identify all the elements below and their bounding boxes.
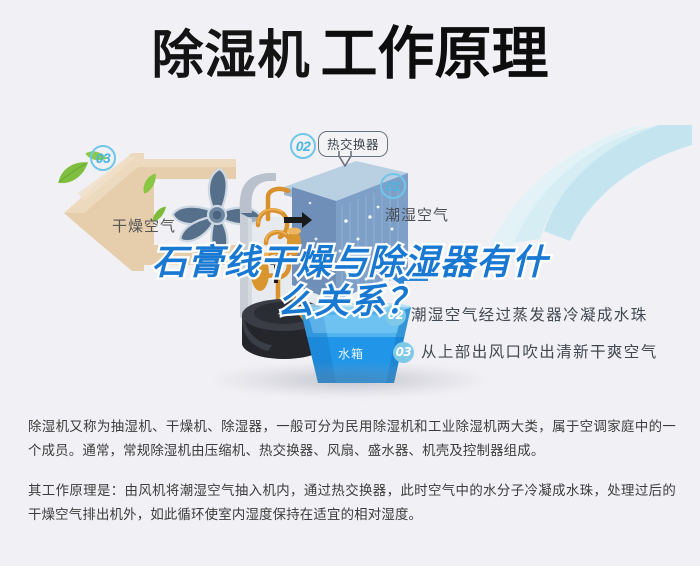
overlay-headline-line1: 石膏线干燥与除湿器有什 — [0, 244, 700, 283]
label-water-tank: 水箱 — [338, 345, 364, 362]
callout-heat-exchanger: 热交换器 — [318, 131, 388, 157]
infographic-page: 除湿机工作原理 — [0, 0, 700, 566]
step-note-badge-03: 03 — [393, 342, 414, 363]
label-dry-air: 干燥空气 — [112, 215, 176, 236]
paragraph-2: 其工作原理是：由风机将潮湿空气抽入机内，通过热交换器，此时空气中的水分子冷凝成水… — [28, 480, 676, 528]
paragraph-1: 除湿机又称为抽湿机、干燥机、除湿器，一般可分为民用除湿机和工业除湿机两大类，属于… — [28, 416, 676, 464]
label-humid-air: 潮湿空气 — [385, 204, 449, 225]
step-badge-02: 02 — [290, 133, 316, 159]
step-badge-03: 03 — [90, 145, 116, 171]
page-title: 除湿机工作原理 — [0, 26, 700, 83]
overlay-headline-line2: 么关系？ — [0, 283, 700, 322]
callout-tail-icon — [338, 151, 352, 167]
overlay-headline: 石膏线干燥与除湿器有什 么关系？ — [0, 244, 700, 322]
step-note-03: 03从上部出风口吹出清新干爽空气 — [393, 340, 658, 363]
step-note-text-03: 从上部出风口吹出清新干爽空气 — [421, 343, 658, 361]
page-title-bold: 工作原理 — [321, 22, 549, 86]
body-copy: 除湿机又称为抽湿机、干燥机、除湿器，一般可分为民用除湿机和工业除湿机两大类，属于… — [28, 416, 676, 528]
step-badge-01: 01 — [380, 173, 406, 199]
unit-shadow — [215, 363, 485, 397]
page-title-light: 除湿机 — [151, 27, 310, 85]
